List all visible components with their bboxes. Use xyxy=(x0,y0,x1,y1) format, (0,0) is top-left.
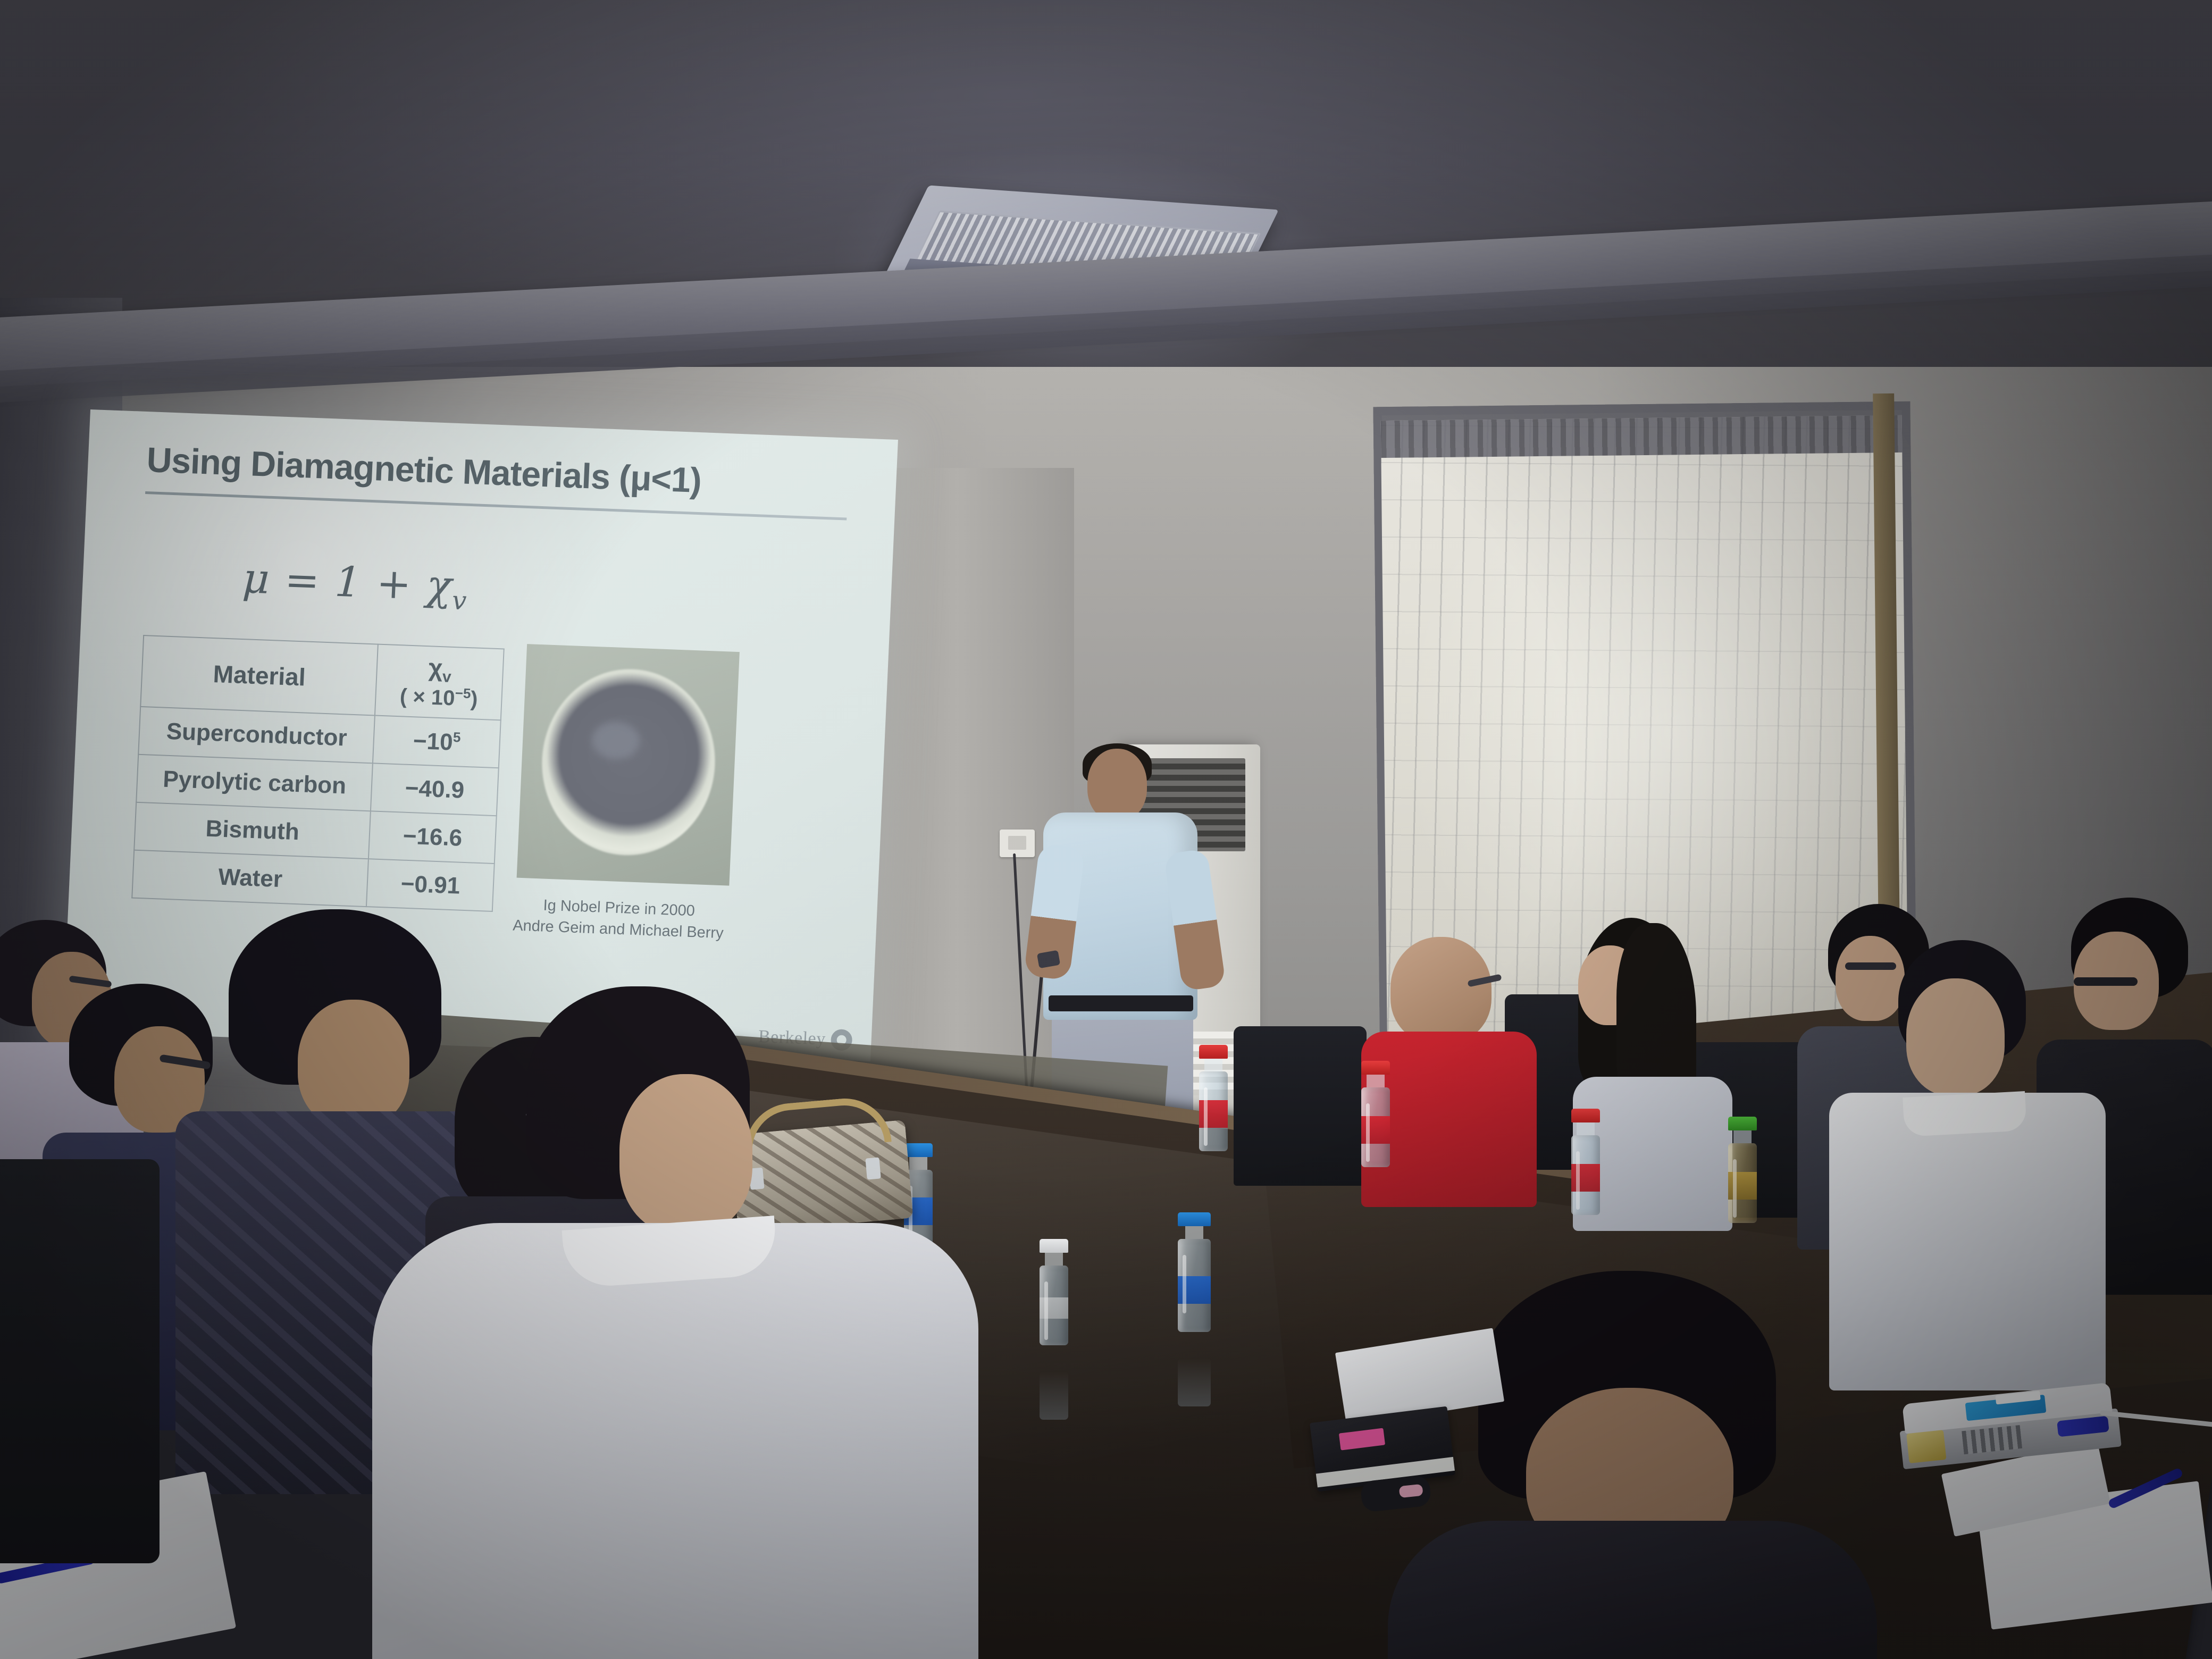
attendee-head xyxy=(1906,978,2005,1095)
bottle-body-wrap xyxy=(1571,1135,1600,1215)
diamagnetic-materials-table: Material χv ( × 10−5) Superconductor −10… xyxy=(131,635,505,912)
water-bottle xyxy=(1728,1117,1757,1223)
presenter-head xyxy=(1087,749,1147,821)
cell-material: Superconductor xyxy=(138,707,375,763)
water-bottle xyxy=(1178,1212,1211,1332)
cell-chi: −16.6 xyxy=(368,811,496,864)
equation-main: μ = 1 + χ xyxy=(241,555,454,610)
bottle-neck xyxy=(1367,1075,1385,1087)
chi-unit-exponent: −5 xyxy=(455,685,471,701)
bottle-cap xyxy=(904,1143,933,1157)
water-bottle xyxy=(1199,1045,1228,1151)
attendee-torso xyxy=(1829,1093,2106,1390)
cell-material: Water xyxy=(132,850,368,907)
table-header-row: Material χv ( × 10−5) xyxy=(140,635,504,720)
key-fob xyxy=(1399,1484,1423,1498)
bottle-neck xyxy=(1733,1130,1752,1143)
wall-outlet xyxy=(1000,829,1035,857)
attendee-torso xyxy=(372,1223,978,1659)
chi-unit-prefix: ( × 10 xyxy=(399,684,455,710)
presenter-belt xyxy=(1049,995,1193,1011)
bottle-highlight xyxy=(1576,1151,1580,1210)
bottle-reflection xyxy=(1040,1372,1068,1420)
attendee-torso xyxy=(1388,1521,1877,1659)
bottle-body-wrap xyxy=(1361,1087,1390,1167)
bottle-highlight xyxy=(1204,1087,1208,1146)
chair xyxy=(1234,1026,1367,1186)
attendee-head xyxy=(1836,936,1905,1021)
magnet-bore-ring xyxy=(538,666,719,858)
chi-symbol: χ xyxy=(428,653,443,682)
bottle-cap xyxy=(1040,1239,1068,1253)
bottle-cap xyxy=(1199,1045,1228,1059)
bottle-highlight xyxy=(1733,1159,1737,1218)
bottle-body-wrap xyxy=(1199,1071,1228,1151)
bottle-neck xyxy=(909,1157,927,1170)
notebook-sticker xyxy=(1339,1428,1385,1451)
curtain-rod-header xyxy=(1381,415,1903,458)
attendee-head xyxy=(298,1000,409,1127)
table-header-material: Material xyxy=(140,635,378,715)
slide-photograph xyxy=(517,644,740,886)
projector-lens xyxy=(1906,1430,1946,1463)
presentation-slide: Using Diamagnetic Materials (μ<1) μ = 1 … xyxy=(63,409,898,1061)
projection-screen: Using Diamagnetic Materials (μ<1) μ = 1 … xyxy=(63,409,898,1061)
handbag-buckle xyxy=(865,1157,881,1179)
table-header-chi: χv ( × 10−5) xyxy=(375,644,504,720)
cell-material: Bismuth xyxy=(134,802,371,859)
chi-subscript: v xyxy=(442,668,451,686)
chi-unit: ( × 10−5) xyxy=(380,683,497,711)
bottle-body-wrap xyxy=(1040,1266,1068,1345)
bottle-neck xyxy=(1577,1122,1595,1135)
cell-material: Pyrolytic carbon xyxy=(136,755,373,811)
bottle-neck xyxy=(1045,1253,1063,1266)
bottle-reflection xyxy=(1178,1359,1211,1406)
water-bottle xyxy=(1040,1239,1068,1345)
chair xyxy=(0,1159,160,1563)
bottle-cap xyxy=(1728,1117,1757,1130)
chi-value-exponent: 5 xyxy=(453,729,461,745)
water-bottle xyxy=(1571,1109,1600,1215)
water-bottle xyxy=(1361,1061,1390,1167)
slide-equation: μ = 1 + χv xyxy=(241,555,470,616)
bottle-highlight xyxy=(1366,1103,1370,1162)
seminar-room-scene: Using Diamagnetic Materials (μ<1) μ = 1 … xyxy=(0,0,2212,1659)
handbag xyxy=(730,1120,914,1233)
cell-chi: −105 xyxy=(373,715,500,768)
cell-chi: −0.91 xyxy=(366,859,494,911)
shirt-collar xyxy=(1903,1091,2027,1137)
slide-caption: Ig Nobel Prize in 2000 Andre Geim and Mi… xyxy=(493,893,744,945)
bottle-highlight xyxy=(1183,1255,1186,1313)
bottle-neck xyxy=(1185,1226,1203,1239)
bottle-body-wrap xyxy=(1728,1143,1757,1223)
chi-unit-suffix: ) xyxy=(470,687,478,710)
chi-value-prefix: −10 xyxy=(413,728,454,756)
cell-chi: −40.9 xyxy=(371,763,498,816)
glasses-icon xyxy=(2074,977,2138,986)
glasses-icon xyxy=(1845,962,1896,970)
bottle-cap xyxy=(1361,1061,1390,1075)
bottle-neck xyxy=(1204,1059,1222,1071)
bottle-body-wrap xyxy=(1178,1239,1211,1332)
bottle-highlight xyxy=(1044,1281,1048,1340)
bottle-cap xyxy=(1178,1212,1211,1226)
bottle-cap xyxy=(1571,1109,1600,1122)
attendee-head xyxy=(1390,937,1492,1043)
attendee-head xyxy=(619,1074,752,1234)
equation-subscript: v xyxy=(451,585,468,616)
